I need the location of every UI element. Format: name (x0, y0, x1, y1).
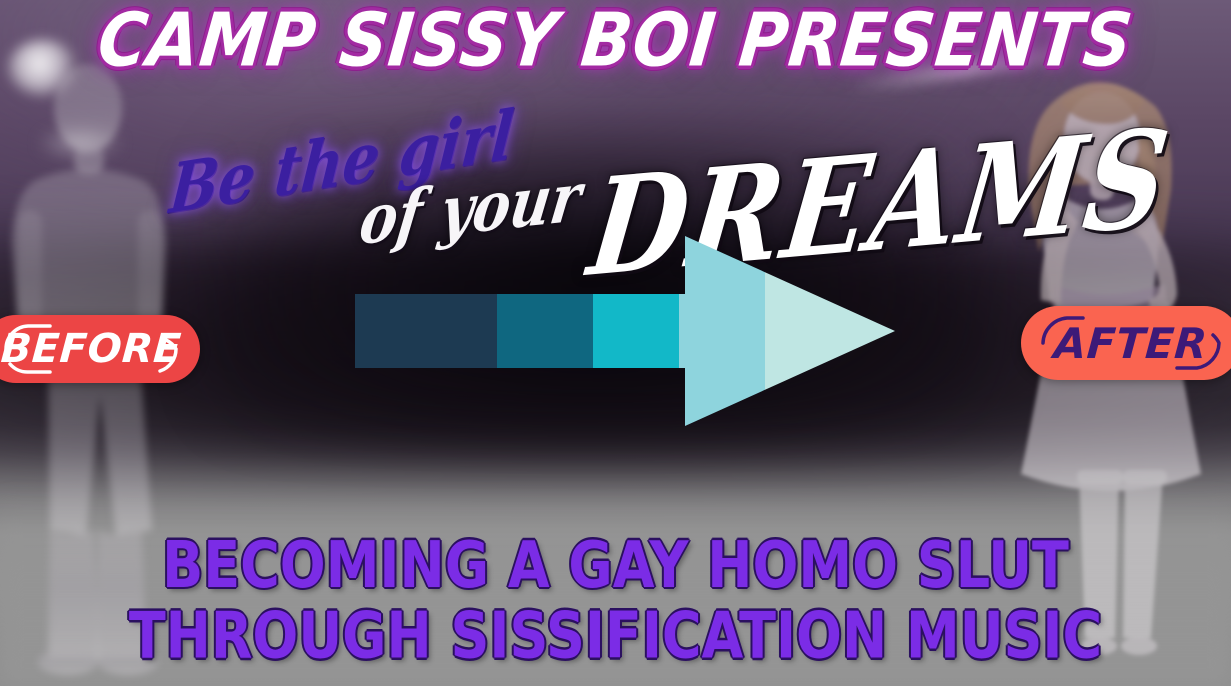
subtitle-line-2: THROUGH SISSIFICATION MUSIC (0, 602, 1231, 673)
badge-after: AFTER (1021, 306, 1231, 380)
subtitle-block: BECOMING A GAY HOMO SLUT THROUGH SISSIFI… (0, 530, 1231, 673)
arrow-segment-1 (355, 236, 497, 426)
badge-before-label: BEFORE (0, 326, 183, 372)
arrow-segment-2 (497, 236, 593, 426)
thumbnail-canvas: CAMP SISSY BOI PRESENTS Be the girl of y… (0, 0, 1231, 686)
arrow-segment-4 (679, 236, 765, 426)
arrow-segment-5 (765, 236, 895, 426)
badge-after-label: AFTER (1053, 319, 1210, 368)
subtitle-line-1: BECOMING A GAY HOMO SLUT (0, 530, 1231, 601)
arrow-segments (355, 236, 895, 426)
badge-before: BEFORE (0, 315, 200, 383)
page-title: CAMP SISSY BOI PRESENTS (0, 6, 1231, 76)
arrow-segment-3 (593, 236, 679, 426)
transformation-arrow (355, 236, 895, 426)
